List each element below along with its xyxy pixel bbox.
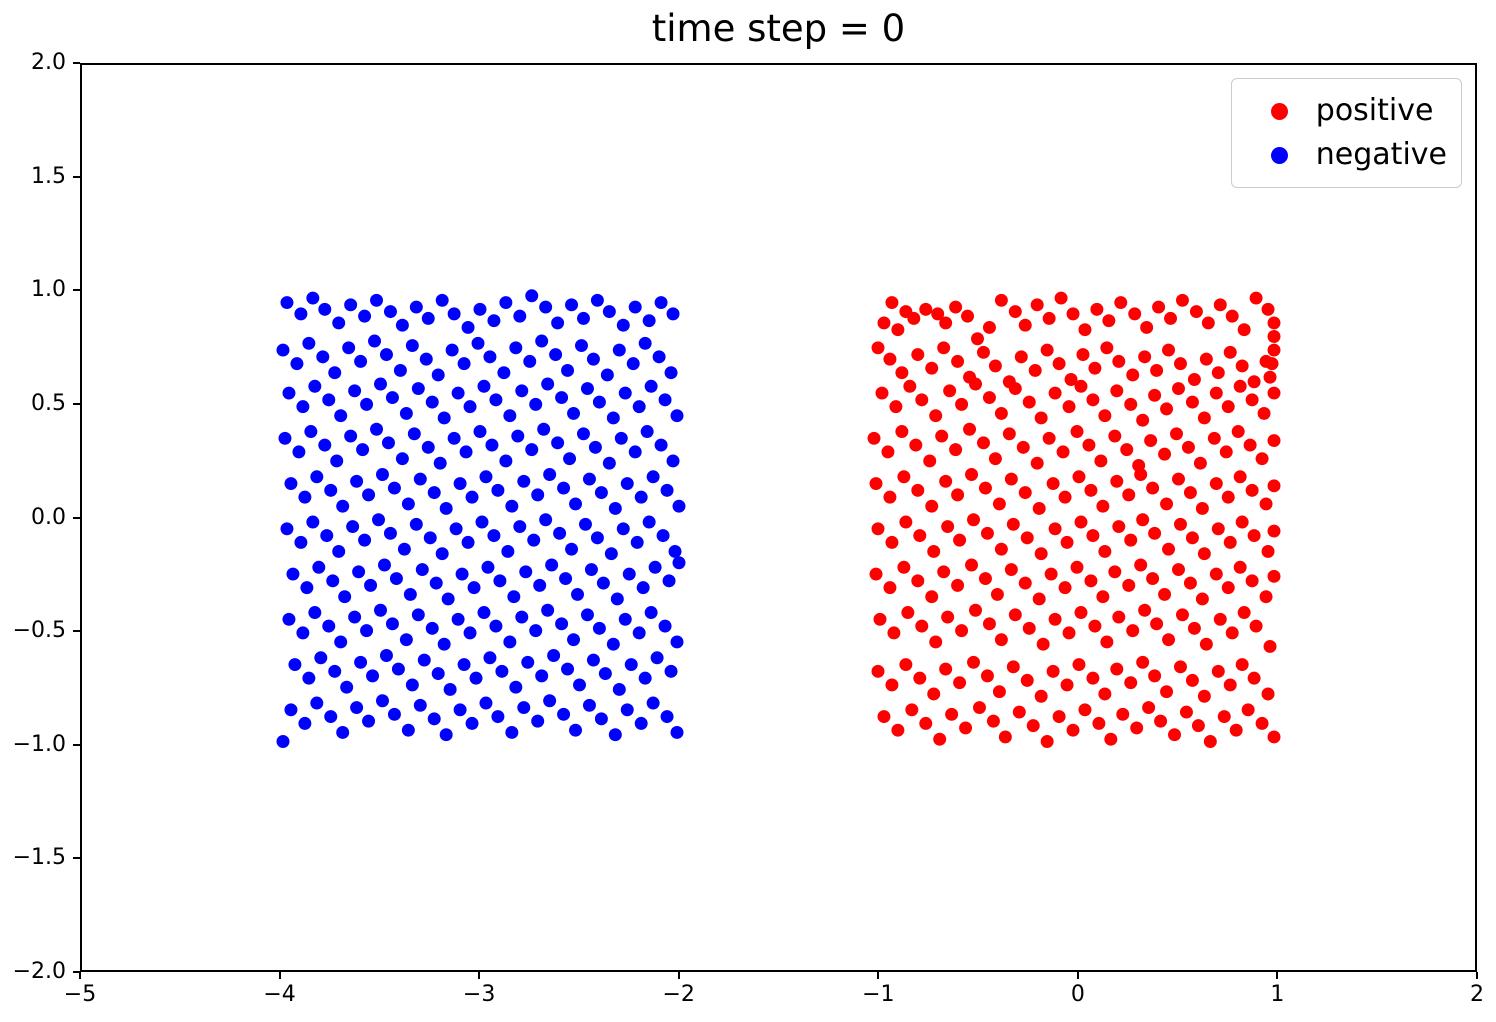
data-point [282,613,295,626]
data-point [414,473,427,486]
data-point [302,337,315,350]
data-point [983,321,996,334]
data-point [1043,312,1056,325]
data-point [438,638,451,651]
data-point [597,577,610,590]
data-point [885,296,898,309]
data-point [1041,735,1054,748]
data-point [499,454,512,467]
data-point [565,298,578,311]
data-point [1162,633,1175,646]
data-point [517,475,530,488]
data-point [477,606,490,619]
data-point [599,667,612,680]
data-point [529,398,542,411]
data-point [1112,611,1125,624]
data-point [1086,672,1099,685]
data-point [1200,638,1213,651]
data-point [400,633,413,646]
data-point [625,658,638,671]
data-point [1208,432,1221,445]
data-point [424,531,437,544]
data-point [1138,350,1151,363]
data-point [505,726,518,739]
data-point [521,656,534,669]
data-point [442,592,455,605]
data-point [1264,371,1277,384]
data-point [1031,298,1044,311]
data-point [1222,491,1235,504]
data-point [955,398,968,411]
data-point [535,335,548,348]
data-point [971,332,984,345]
data-point [627,357,640,370]
data-point [533,579,546,592]
data-point [356,443,369,456]
data-point [298,491,311,504]
data-point [354,656,367,669]
data-point [967,656,980,669]
data-point [555,391,568,404]
data-point [1073,470,1086,483]
x-tick-mark [877,972,879,979]
data-point [491,710,504,723]
data-point [1053,710,1066,723]
data-point [344,298,357,311]
data-point [1186,531,1199,544]
plot-area: positivenegative [80,63,1477,972]
data-point [619,387,632,400]
data-point [659,620,672,633]
data-point [635,717,648,730]
data-point [569,724,582,737]
data-point [1234,470,1247,483]
data-point [531,715,544,728]
data-point [609,728,622,741]
y-tick-mark [73,630,80,632]
data-point [615,432,628,445]
data-point [874,613,887,626]
legend-marker-cell [1244,103,1316,120]
data-point [430,577,443,590]
legend-entry-negative[interactable]: negative [1244,133,1447,177]
data-point [1268,344,1281,357]
data-point [1098,409,1111,422]
data-point [1212,366,1225,379]
data-point [1005,473,1018,486]
y-tick-label: −2.0 [0,961,66,983]
data-point [1124,398,1137,411]
data-point [1084,484,1097,497]
data-point [645,606,658,619]
data-point [981,527,994,540]
data-point [1134,559,1147,572]
data-point [456,568,469,581]
data-point [1110,384,1123,397]
data-point [953,676,966,689]
data-point [493,574,506,587]
data-point [897,561,910,574]
data-point [420,353,433,366]
data-point [422,312,435,325]
data-point [1268,330,1281,343]
x-tick-mark [1276,972,1278,979]
data-point [458,658,471,671]
x-tick-mark [1476,972,1478,979]
data-point [1180,706,1193,719]
data-point [348,611,361,624]
data-point [444,683,457,696]
data-point [872,522,885,535]
data-point [909,439,922,452]
data-point [1182,441,1195,454]
data-point [358,310,371,323]
data-point [428,486,441,499]
data-point [1128,307,1141,320]
data-point [889,400,902,413]
data-point [581,382,594,395]
data-point [1027,719,1040,732]
data-point [402,497,415,510]
data-point [1108,430,1121,443]
data-point [567,633,580,646]
data-point [629,301,642,314]
data-point [1049,613,1062,626]
data-point [452,387,465,400]
data-point [448,432,461,445]
data-point [911,574,924,587]
data-point [1150,617,1163,630]
data-point [1007,518,1020,531]
data-point [1082,439,1095,452]
data-point [621,703,634,716]
data-point [1258,407,1271,420]
data-point [322,620,335,633]
data-point [643,314,656,327]
data-point [591,294,604,307]
data-point [1196,592,1209,605]
data-point [621,477,634,490]
y-tick-label: 0.5 [0,393,66,415]
data-point [292,445,305,458]
data-point [1059,581,1072,594]
data-point [643,516,656,529]
data-point [1019,577,1032,590]
data-point [913,672,926,685]
data-point [1268,316,1281,329]
data-point [613,683,626,696]
data-point [1126,624,1139,637]
data-point [410,301,423,314]
data-point [1236,359,1249,372]
data-point [1222,400,1235,413]
data-point [1190,305,1203,318]
data-point [1015,350,1028,363]
data-point [541,378,554,391]
data-point [440,728,453,741]
data-point [503,635,516,648]
data-point [438,411,451,424]
data-point [545,559,558,572]
data-point [282,387,295,400]
data-point [639,337,652,350]
data-point [525,443,538,456]
data-point [332,316,345,329]
data-point [617,522,630,535]
data-point [1124,676,1137,689]
data-point [911,348,924,361]
data-point [667,307,680,320]
data-point [959,721,972,734]
data-point [374,378,387,391]
data-point [573,678,586,691]
data-point [394,364,407,377]
data-point [1092,717,1105,730]
data-point [304,425,317,438]
data-point [641,425,654,438]
data-point [479,470,492,483]
data-point [1176,294,1189,307]
data-point [1061,536,1074,549]
data-point [993,685,1006,698]
data-point [655,296,668,309]
data-point [877,710,890,723]
data-point [1158,588,1171,601]
y-tick-label: 0.0 [0,507,66,529]
data-point [995,543,1008,556]
data-point [358,534,371,547]
data-point [372,513,385,526]
data-point [579,518,592,531]
data-point [1078,703,1091,716]
data-point [1248,529,1261,542]
data-point [1136,513,1149,526]
data-point [1250,292,1263,305]
data-point [388,482,401,495]
data-point [280,522,293,535]
data-point [513,310,526,323]
data-point [491,484,504,497]
data-point [1134,468,1147,481]
data-point [1021,531,1034,544]
data-point [1172,382,1185,395]
data-point [1214,298,1227,311]
data-point [939,663,952,676]
data-point [277,344,290,357]
data-point [1162,344,1175,357]
data-point [1067,307,1080,320]
data-point [929,635,942,648]
data-point [1218,710,1231,723]
data-point [983,617,996,630]
data-point [1071,561,1084,574]
data-point [474,303,487,316]
data-point [1114,296,1127,309]
data-point [915,620,928,633]
data-point [969,378,982,391]
data-point [374,604,387,617]
data-point [595,712,608,725]
data-point [593,396,606,409]
data-point [935,430,948,443]
data-point [895,366,908,379]
legend-entry-positive[interactable]: positive [1244,89,1447,133]
data-point [1268,570,1281,583]
data-point [543,468,556,481]
data-points-layer [82,65,1475,970]
data-point [466,491,479,504]
data-point [398,543,411,556]
y-tick-label: −0.5 [0,620,66,642]
data-point [1170,427,1183,440]
data-point [639,672,652,685]
data-point [1154,715,1167,728]
data-point [531,488,544,501]
data-point [901,606,914,619]
data-point [603,457,616,470]
data-point [937,341,950,354]
data-point [310,470,323,483]
data-point [919,717,932,730]
data-point [671,726,684,739]
data-point [665,665,678,678]
y-tick-label: −1.0 [0,734,66,756]
x-tick-label: −2 [639,984,719,1006]
data-point [673,500,686,513]
data-point [1035,547,1048,560]
data-point [661,484,674,497]
data-point [903,380,916,393]
data-point [1246,484,1259,497]
data-point [1110,475,1123,488]
data-point [663,574,676,587]
data-point [368,335,381,348]
data-point [925,500,938,513]
data-point [328,366,341,379]
data-point [396,319,409,332]
data-point [340,681,353,694]
data-point [603,305,616,318]
data-point [497,366,510,379]
data-point [1256,452,1269,465]
data-point [1073,658,1086,671]
data-point [1023,396,1036,409]
data-point [979,482,992,495]
x-tick-mark [1077,972,1079,979]
data-point [619,613,632,626]
scatter-plot-figure: time step = 0 positivenegative −2.0−1.5−… [0,0,1496,1022]
data-point [611,592,624,605]
data-point [575,339,588,352]
data-point [348,384,361,397]
data-point [577,427,590,440]
data-point [1210,387,1223,400]
data-point [535,669,548,682]
data-point [581,608,594,621]
data-point [609,502,622,515]
data-point [989,452,1002,465]
data-point [464,626,477,639]
data-point [296,626,309,639]
data-point [1246,574,1259,587]
data-point [404,588,417,601]
data-point [509,681,522,694]
data-point [1009,608,1022,621]
x-tick-label: 2 [1437,984,1496,1006]
data-point [1172,473,1185,486]
data-point [1075,516,1088,529]
data-point [563,452,576,465]
data-point [661,710,674,723]
data-point [1126,368,1139,381]
data-point [360,398,373,411]
data-point [1184,486,1197,499]
data-point [927,687,940,700]
data-point [953,534,966,547]
data-point [1234,380,1247,393]
data-point [380,649,393,662]
x-tick-label: 1 [1237,984,1317,1006]
data-point [951,579,964,592]
data-point [1019,486,1032,499]
data-point [1146,482,1159,495]
data-point [1100,635,1113,648]
data-point [298,717,311,730]
data-point [426,622,439,635]
data-point [1204,735,1217,748]
data-point [1023,622,1036,635]
data-point [1262,687,1275,700]
data-point [1174,518,1187,531]
data-point [1230,724,1243,737]
y-tick-mark [73,744,80,746]
data-point [913,529,926,542]
data-point [342,341,355,354]
data-point [378,559,391,572]
data-point [870,477,883,490]
data-point [539,301,552,314]
data-point [1098,687,1111,700]
data-point [1086,529,1099,542]
data-point [448,307,461,320]
data-point [517,701,530,714]
data-point [1224,536,1237,549]
data-point [925,590,938,603]
data-point [1094,454,1107,467]
legend-dot-icon [1271,103,1288,120]
series-positive [868,292,1281,748]
data-point [583,699,596,712]
data-point [416,563,429,576]
data-point [1017,441,1030,454]
data-point [505,500,518,513]
data-point [511,430,524,443]
data-point [1013,706,1026,719]
data-point [360,624,373,637]
data-point [366,669,379,682]
data-point [601,368,614,381]
data-point [485,439,498,452]
data-point [513,520,526,533]
data-point [1138,604,1151,617]
data-point [370,423,383,436]
data-point [316,350,329,363]
data-point [334,635,347,648]
data-point [450,522,463,535]
data-point [406,339,419,352]
data-point [899,516,912,529]
data-point [436,294,449,307]
